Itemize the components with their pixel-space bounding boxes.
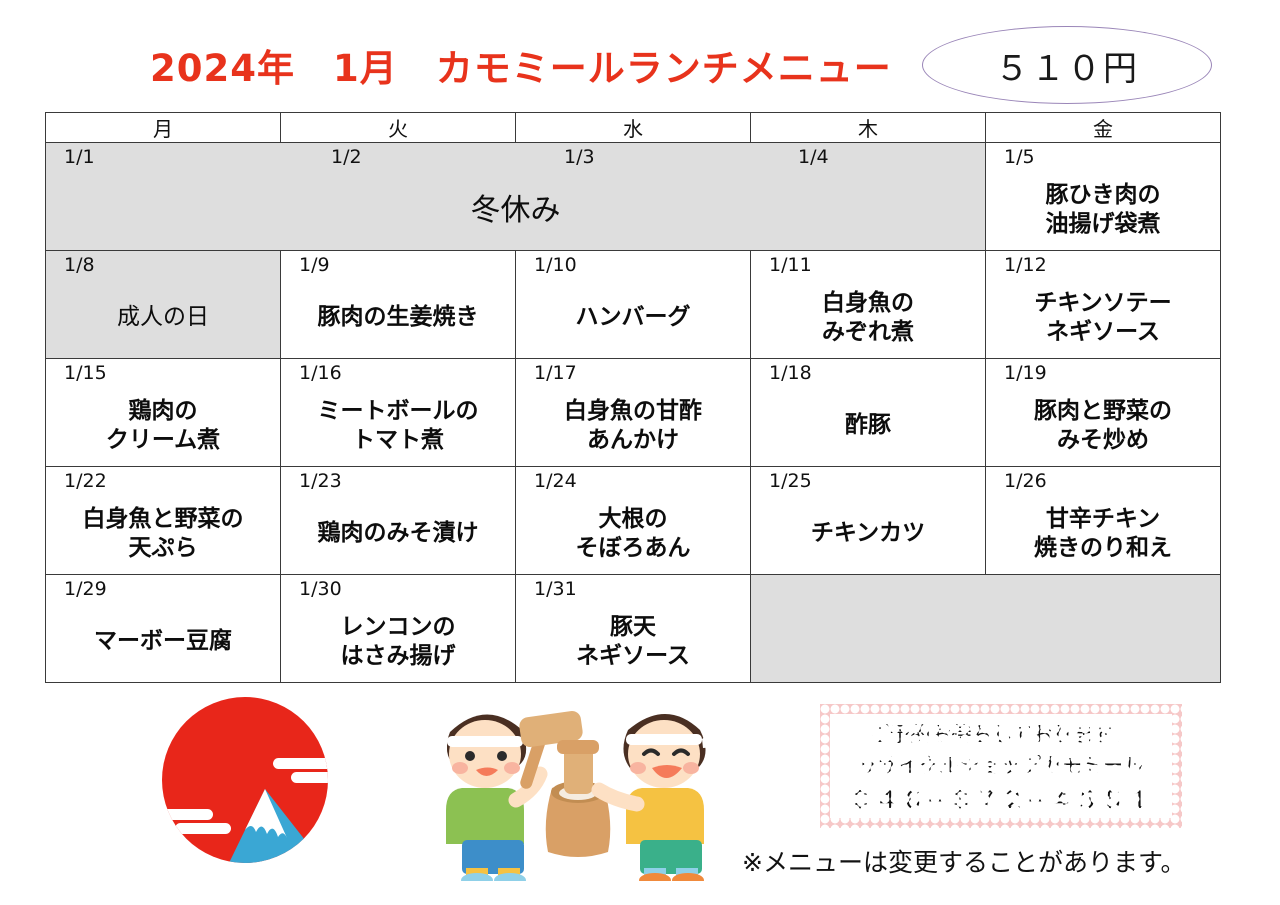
weekday-header-row: 月 火 水 木 金 bbox=[46, 113, 1221, 143]
cell-dish-line: みそ炒め bbox=[1057, 426, 1149, 454]
cell-date: 1/23 bbox=[299, 471, 342, 492]
price-badge-label: ５１０円 bbox=[995, 41, 1139, 90]
cell-date: 1/12 bbox=[1004, 255, 1047, 276]
cell-date: 1/29 bbox=[64, 579, 107, 600]
cell-dish-line: ハンバーグ bbox=[576, 303, 691, 331]
cell-dish-line: 甘辛チキン bbox=[1046, 505, 1160, 533]
cell-dish-line: チキンカツ bbox=[811, 519, 925, 547]
cell-date: 1/25 bbox=[769, 471, 812, 492]
menu-cell-0118[interactable]: 1/18 酢豚 bbox=[751, 359, 986, 467]
cell-dish-line: 白身魚の bbox=[822, 289, 914, 317]
cell-date: 1/8 bbox=[64, 255, 95, 276]
footer-illustrations: ご予約お待ちしております。 リサイクルショップカモミール ０４６−８７２−４５５… bbox=[0, 688, 1280, 905]
cell-date: 1/9 bbox=[299, 255, 330, 276]
cell-date: 1/18 bbox=[769, 363, 812, 384]
cell-dish: 鶏肉のみそ漬け bbox=[281, 497, 515, 570]
cell-dish: 豚肉の生姜焼き bbox=[281, 281, 515, 354]
cell-dish-line: 鶏肉のみそ漬け bbox=[318, 519, 479, 547]
mount-fuji-sunrise-illustration bbox=[145, 692, 360, 872]
menu-cell-0108[interactable]: 1/8 成人の日 bbox=[46, 251, 281, 359]
cell-dish-line: 白身魚と野菜の bbox=[83, 505, 244, 533]
menu-cell-0124[interactable]: 1/24 大根の そぼろあん bbox=[516, 467, 751, 575]
mochi-pounding-kids-illustration bbox=[432, 696, 732, 881]
cell-date: 1/1 bbox=[64, 147, 95, 168]
menu-cell-0110[interactable]: 1/10 ハンバーグ bbox=[516, 251, 751, 359]
cell-date: 1/19 bbox=[1004, 363, 1047, 384]
cell-dish-line: 焼きのり和え bbox=[1034, 534, 1172, 562]
cell-dish-line: 成人の日 bbox=[117, 303, 209, 331]
cell-dish-line: 白身魚の甘酢 bbox=[564, 397, 702, 425]
cell-date: 1/5 bbox=[1004, 147, 1035, 168]
menu-week-row: 1/15 鶏肉の クリーム煮 1/16 ミートボールの トマト煮 1/17 bbox=[46, 359, 1221, 467]
menu-week-row: 1/1 1/2 1/3 1/4 冬休み 1/5 豚ひき肉の 油揚げ袋煮 bbox=[46, 143, 1221, 251]
menu-week-row: 1/29 マーボー豆腐 1/30 レンコンの はさみ揚げ 1/31 豚天 bbox=[46, 575, 1221, 683]
shop-name: リサイクルショップカモミール bbox=[858, 749, 1144, 778]
cell-date: 1/22 bbox=[64, 471, 107, 492]
cell-dish: 白身魚の みぞれ煮 bbox=[751, 281, 985, 354]
menu-cell-0111[interactable]: 1/11 白身魚の みぞれ煮 bbox=[751, 251, 986, 359]
cell-dish: 豚肉と野菜の みそ炒め bbox=[986, 389, 1220, 462]
menu-cell-empty bbox=[751, 575, 1221, 683]
cell-date: 1/4 bbox=[798, 147, 829, 168]
cell-dish-line: そぼろあん bbox=[576, 534, 691, 562]
cell-date: 1/31 bbox=[534, 579, 577, 600]
page-title: 2024年 1月 カモミールランチメニュー bbox=[150, 38, 870, 92]
cell-dish: 甘辛チキン 焼きのり和え bbox=[986, 497, 1220, 570]
cell-date: 1/17 bbox=[534, 363, 577, 384]
cell-dish-line: レンコンの bbox=[341, 613, 456, 641]
cell-dish: 冬休み bbox=[46, 177, 985, 246]
menu-cell-0116[interactable]: 1/16 ミートボールの トマト煮 bbox=[281, 359, 516, 467]
mochi-pounding-icon bbox=[432, 696, 732, 881]
cell-dish-line: 大根の bbox=[599, 505, 668, 533]
cell-date: 1/2 bbox=[331, 147, 362, 168]
cell-dish: レンコンの はさみ揚げ bbox=[281, 605, 515, 678]
cell-dish-line: トマト煮 bbox=[352, 426, 444, 454]
cell-dish-line: 豚天 bbox=[610, 613, 656, 641]
cell-dish: マーボー豆腐 bbox=[46, 605, 280, 678]
page-header: 2024年 1月 カモミールランチメニュー ５１０円 bbox=[0, 0, 1280, 108]
reservation-content: ご予約お待ちしております。 リサイクルショップカモミール ０４６−８７２−４５５… bbox=[830, 714, 1172, 818]
cell-date: 1/3 bbox=[564, 147, 595, 168]
menu-week-row: 1/8 成人の日 1/9 豚肉の生姜焼き 1/10 ハンバーグ bbox=[46, 251, 1221, 359]
price-badge: ５１０円 bbox=[922, 26, 1212, 104]
cell-dish: 鶏肉の クリーム煮 bbox=[46, 389, 280, 462]
menu-cell-0119[interactable]: 1/19 豚肉と野菜の みそ炒め bbox=[986, 359, 1221, 467]
menu-cell-0129[interactable]: 1/29 マーボー豆腐 bbox=[46, 575, 281, 683]
menu-cell-0126[interactable]: 1/26 甘辛チキン 焼きのり和え bbox=[986, 467, 1221, 575]
weekday-header-fri: 金 bbox=[986, 113, 1221, 143]
menu-cell-0105[interactable]: 1/5 豚ひき肉の 油揚げ袋煮 bbox=[986, 143, 1221, 251]
cell-dish: 酢豚 bbox=[751, 389, 985, 462]
cell-dish: 白身魚と野菜の 天ぷら bbox=[46, 497, 280, 570]
cell-date: 1/16 bbox=[299, 363, 342, 384]
cell-dish-line: あんかけ bbox=[587, 426, 679, 454]
cell-dish: チキンソテー ネギソース bbox=[986, 281, 1220, 354]
menu-page: 2024年 1月 カモミールランチメニュー ５１０円 月 火 水 木 金 1/1… bbox=[0, 0, 1280, 905]
cell-dish-line: ミートボールの bbox=[318, 397, 479, 425]
cell-dish: 大根の そぼろあん bbox=[516, 497, 750, 570]
cell-date: 1/30 bbox=[299, 579, 342, 600]
cell-dish-line: チキンソテー bbox=[1034, 289, 1171, 317]
cell-dish-line: ネギソース bbox=[576, 642, 690, 670]
cell-dish-line: 豚肉の生姜焼き bbox=[318, 303, 479, 331]
menu-cell-0131[interactable]: 1/31 豚天 ネギソース bbox=[516, 575, 751, 683]
cell-dish-line: 天ぷら bbox=[129, 534, 198, 562]
menu-cell-0112[interactable]: 1/12 チキンソテー ネギソース bbox=[986, 251, 1221, 359]
mount-fuji-icon bbox=[145, 692, 360, 872]
menu-cell-0123[interactable]: 1/23 鶏肉のみそ漬け bbox=[281, 467, 516, 575]
cell-date: 1/26 bbox=[1004, 471, 1047, 492]
weekday-header-tue: 火 bbox=[281, 113, 516, 143]
weekday-header-wed: 水 bbox=[516, 113, 751, 143]
weekday-header-mon: 月 bbox=[46, 113, 281, 143]
reservation-stamp-box: ご予約お待ちしております。 リサイクルショップカモミール ０４６−８７２−４５５… bbox=[820, 704, 1182, 828]
phone-number[interactable]: ０４６−８７２−４５５１ bbox=[849, 780, 1153, 815]
cell-dish-line: ネギソース bbox=[1046, 318, 1160, 346]
menu-cell-0130[interactable]: 1/30 レンコンの はさみ揚げ bbox=[281, 575, 516, 683]
cell-dish: 成人の日 bbox=[46, 281, 280, 354]
menu-change-note: ※メニューは変更することがあります。 bbox=[742, 843, 1242, 879]
cell-dish: ミートボールの トマト煮 bbox=[281, 389, 515, 462]
cell-date: 1/10 bbox=[534, 255, 577, 276]
menu-cell-0122[interactable]: 1/22 白身魚と野菜の 天ぷら bbox=[46, 467, 281, 575]
cell-dish-line: はさみ揚げ bbox=[341, 642, 456, 670]
cell-dish-line: マーボー豆腐 bbox=[94, 627, 232, 655]
child-right bbox=[599, 714, 716, 881]
menu-cell-0115[interactable]: 1/15 鶏肉の クリーム煮 bbox=[46, 359, 281, 467]
menu-cell-0125[interactable]: 1/25 チキンカツ bbox=[751, 467, 986, 575]
menu-cell-winter-break[interactable]: 1/1 1/2 1/3 1/4 冬休み bbox=[46, 143, 986, 251]
cell-dish: ハンバーグ bbox=[516, 281, 750, 354]
cell-dish-line: 豚ひき肉の bbox=[1046, 181, 1161, 209]
cell-dish-line: 油揚げ袋煮 bbox=[1046, 210, 1161, 238]
menu-calendar-table: 月 火 水 木 金 1/1 1/2 1/3 1/4 冬休み bbox=[45, 112, 1221, 683]
cell-dish-line: みぞれ煮 bbox=[822, 318, 914, 346]
cell-date: 1/15 bbox=[64, 363, 107, 384]
cell-dish: 豚天 ネギソース bbox=[516, 605, 750, 678]
cell-dish: 白身魚の甘酢 あんかけ bbox=[516, 389, 750, 462]
cell-dish: 豚ひき肉の 油揚げ袋煮 bbox=[986, 173, 1220, 246]
cell-dish-line: クリーム煮 bbox=[106, 426, 220, 454]
menu-week-row: 1/22 白身魚と野菜の 天ぷら 1/23 鶏肉のみそ漬け 1/24 大根の bbox=[46, 467, 1221, 575]
cell-dish-line: 冬休み bbox=[471, 193, 561, 230]
cell-date: 1/24 bbox=[534, 471, 577, 492]
menu-cell-0109[interactable]: 1/9 豚肉の生姜焼き bbox=[281, 251, 516, 359]
cell-dish-line: 豚肉と野菜の bbox=[1034, 397, 1172, 425]
cell-dish-line: 鶏肉の bbox=[129, 397, 198, 425]
cell-date: 1/11 bbox=[769, 255, 812, 276]
cell-dish-line: 酢豚 bbox=[845, 411, 891, 439]
weekday-header-thu: 木 bbox=[751, 113, 986, 143]
reservation-line-1: ご予約お待ちしております。 bbox=[869, 718, 1132, 747]
cell-dish: チキンカツ bbox=[751, 497, 985, 570]
menu-cell-0117[interactable]: 1/17 白身魚の甘酢 あんかけ bbox=[516, 359, 751, 467]
